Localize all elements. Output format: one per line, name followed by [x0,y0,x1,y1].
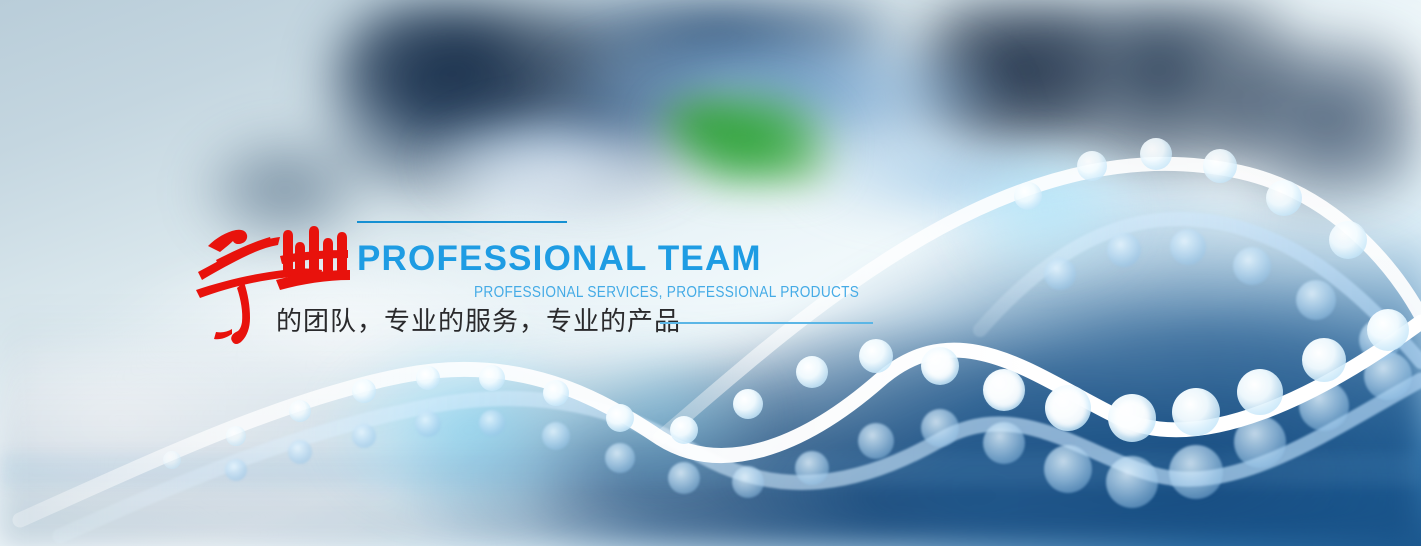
decorative-rule-top [357,221,567,223]
subheadline-services-products: PROFESSIONAL SERVICES, PROFESSIONAL PROD… [474,285,859,301]
banner-text-block: PROFESSIONAL TEAM PROFESSIONAL SERVICES,… [0,0,1421,546]
professional-team-banner: PROFESSIONAL TEAM PROFESSIONAL SERVICES,… [0,0,1421,546]
headline-professional-team: PROFESSIONAL TEAM [357,241,762,276]
decorative-rule-bottom [660,322,873,324]
chinese-tagline: 的团队，专业的服务，专业的产品 [276,306,681,337]
